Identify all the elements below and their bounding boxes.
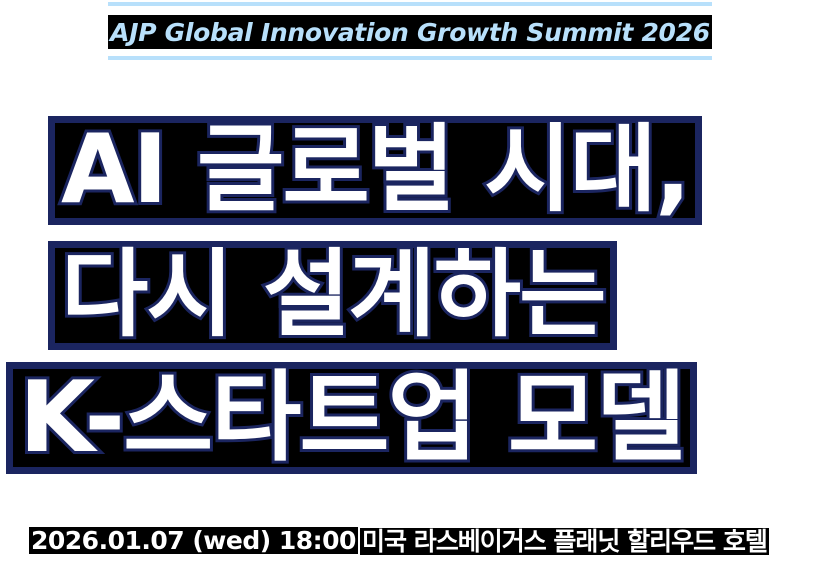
footer-info-bar: 2026.01.07 (wed) 18:00 미국 라스베이거스 플래닛 할리우… [0, 527, 820, 569]
event-venue: 미국 라스베이거스 플래닛 할리우드 호텔 [360, 528, 769, 555]
headline-block-3: K-스타트업 모델 [6, 362, 697, 474]
eyebrow-top-rule [108, 2, 712, 6]
eyebrow-bar: AJP Global Innovation Growth Summit 2026 [108, 15, 712, 49]
event-date: 2026.01.07 (wed) 18:00 [29, 527, 358, 554]
headline: AI 글로벌 시대, 다시 설계하는 K-스타트업 모델 [0, 108, 820, 478]
headline-line-2: 다시 설계하는 [61, 248, 604, 343]
headline-row-3: K-스타트업 모델 [0, 358, 820, 478]
headline-row-1: AI 글로벌 시대, [0, 108, 820, 233]
eyebrow-bottom-rule [108, 56, 712, 60]
headline-block-1: AI 글로벌 시대, [48, 116, 702, 225]
headline-line-3: K-스타트업 모델 [19, 369, 684, 467]
eyebrow-band: AJP Global Innovation Growth Summit 2026 [108, 2, 712, 60]
headline-block-2: 다시 설계하는 [48, 241, 617, 350]
summit-name: AJP Global Innovation Growth Summit 2026 [110, 20, 710, 45]
headline-row-2: 다시 설계하는 [0, 233, 820, 358]
event-poster: AJP Global Innovation Growth Summit 2026… [0, 0, 820, 569]
headline-line-1: AI 글로벌 시대, [61, 123, 689, 218]
